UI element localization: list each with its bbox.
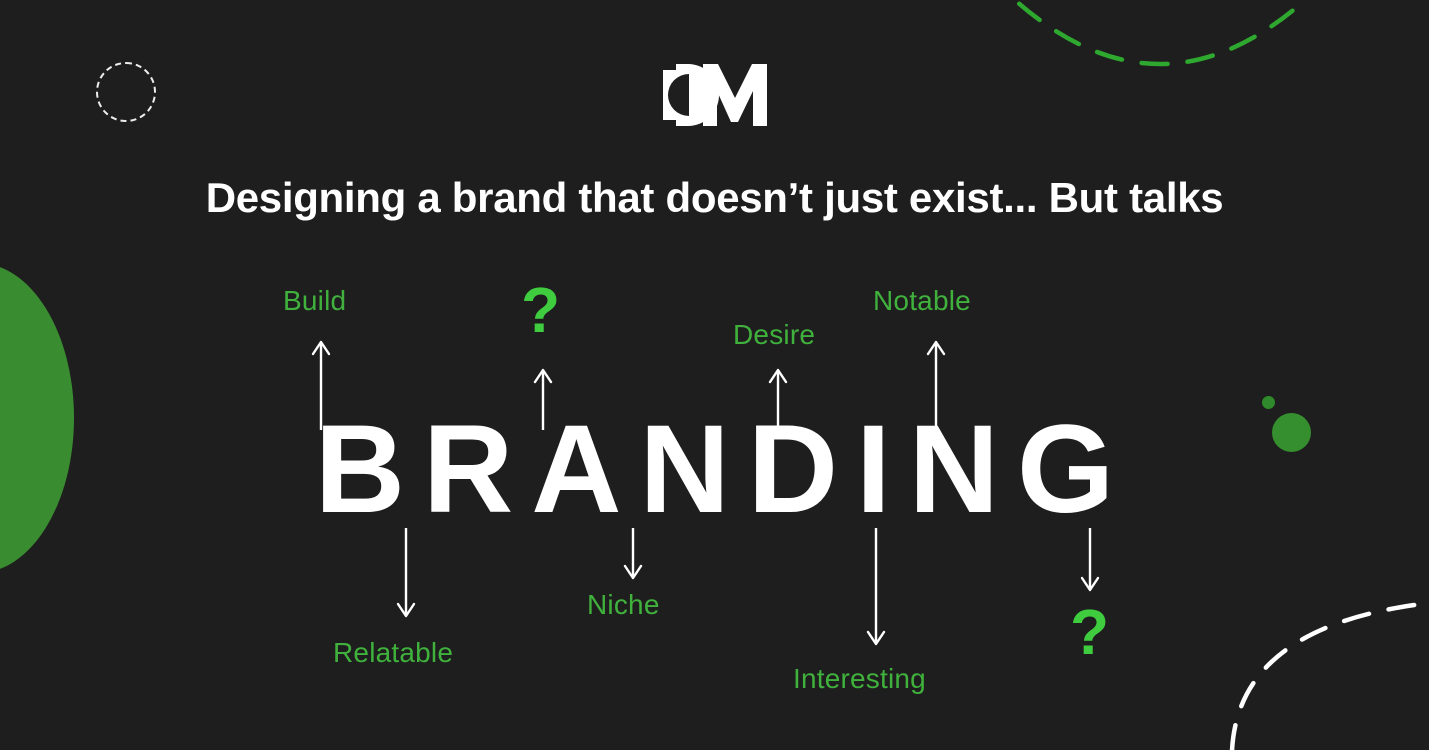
label-question-top: ? [521,278,560,342]
page-headline: Designing a brand that doesn’t just exis… [0,174,1429,222]
arrow-relatable [392,524,420,624]
label-niche: Niche [587,589,660,621]
arrow-interesting [862,524,890,652]
dm-logo-icon[interactable] [663,62,767,128]
label-relatable: Relatable [333,637,453,669]
label-build: Build [283,285,346,317]
label-interesting: Interesting [793,663,926,695]
label-notable: Notable [873,285,971,317]
white-dashed-arc-decoration [1228,565,1429,750]
green-dashed-arc-decoration [980,0,1340,116]
poster-canvas: Designing a brand that doesn’t just exis… [0,0,1429,750]
dashed-circle-decoration [96,62,156,122]
label-desire: Desire [733,319,815,351]
branding-wordmark: BRANDING [0,407,1429,532]
label-question-bottom: ? [1070,600,1109,664]
